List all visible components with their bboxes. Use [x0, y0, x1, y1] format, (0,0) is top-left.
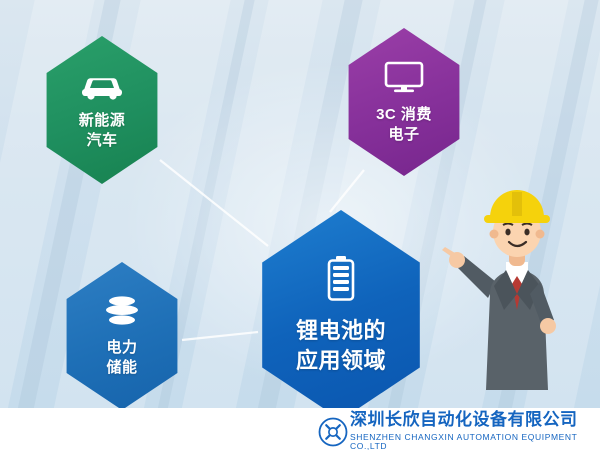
link-3c-center — [330, 170, 364, 212]
battery-icon — [324, 255, 358, 306]
engineer-finger — [442, 247, 455, 257]
hard-hat-brim — [484, 215, 550, 223]
company-name-en: SHENZHEN CHANGXIN AUTOMATION EQUIPMENT C… — [350, 433, 600, 452]
footer-bar: 深圳长欣自动化设备有限公司 SHENZHEN CHANGXIN AUTOMATI… — [0, 408, 600, 455]
link-ev-center — [160, 160, 268, 246]
hard-hat-ridge — [512, 192, 522, 216]
engineer-ear — [536, 230, 545, 239]
changxin-logo — [318, 417, 348, 447]
infographic-canvas: 新能源 汽车 3C 消费 电子 电力 储能 — [0, 0, 600, 455]
engineer-eye — [505, 229, 510, 236]
monitor-icon — [382, 60, 426, 99]
hex-label-center: 锂电池的 应用领域 — [296, 316, 386, 375]
hex-label-ev: 新能源 汽车 — [79, 111, 126, 150]
engineer-illustration — [442, 190, 592, 408]
hex-label-consumer-electronics: 3C 消费 电子 — [376, 105, 432, 144]
link-storage-center — [182, 332, 258, 340]
car-icon — [79, 70, 125, 105]
engineer-hand-right — [540, 318, 556, 334]
company-name-cn: 深圳长欣自动化设备有限公司 — [350, 411, 600, 430]
engineer-ear — [490, 230, 499, 239]
footer-company-block: 深圳长欣自动化设备有限公司 SHENZHEN CHANGXIN AUTOMATI… — [350, 411, 600, 451]
engineer-eye — [524, 229, 529, 236]
hex-label-energy-storage: 电力 储能 — [106, 338, 137, 377]
coins-icon — [99, 295, 145, 332]
